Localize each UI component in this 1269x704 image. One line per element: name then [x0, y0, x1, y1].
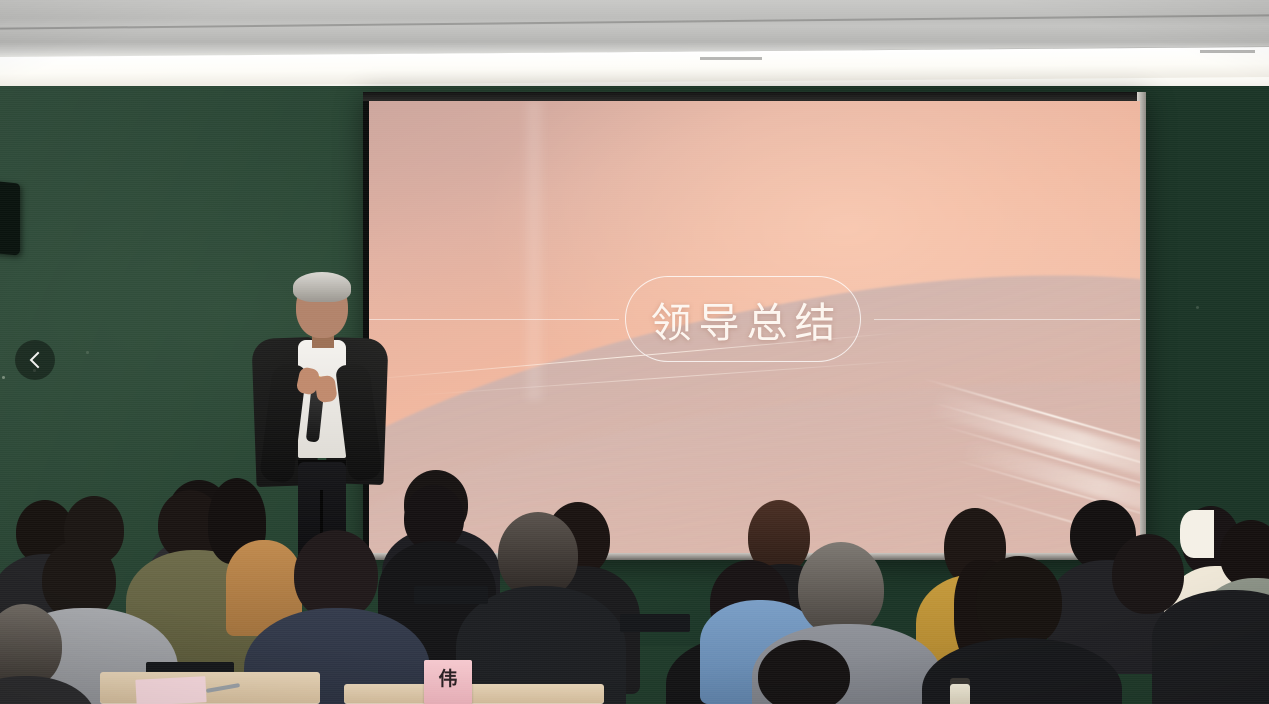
head	[758, 640, 850, 704]
laptop	[414, 586, 488, 604]
laptop	[620, 614, 690, 632]
head	[976, 556, 1062, 648]
name-placard: 伟	[424, 660, 472, 704]
previous-button[interactable]	[15, 340, 55, 380]
head	[1112, 534, 1184, 614]
water-bottle	[950, 684, 970, 704]
head	[294, 530, 378, 620]
chevron-left-icon	[28, 350, 42, 370]
photo-viewer: 领导总结	[0, 0, 1269, 704]
headband	[1180, 510, 1214, 558]
document-paper	[135, 676, 206, 704]
placard-name: 伟	[424, 670, 472, 689]
table-front-center	[344, 684, 604, 704]
head	[798, 542, 884, 636]
audience	[0, 0, 1269, 704]
